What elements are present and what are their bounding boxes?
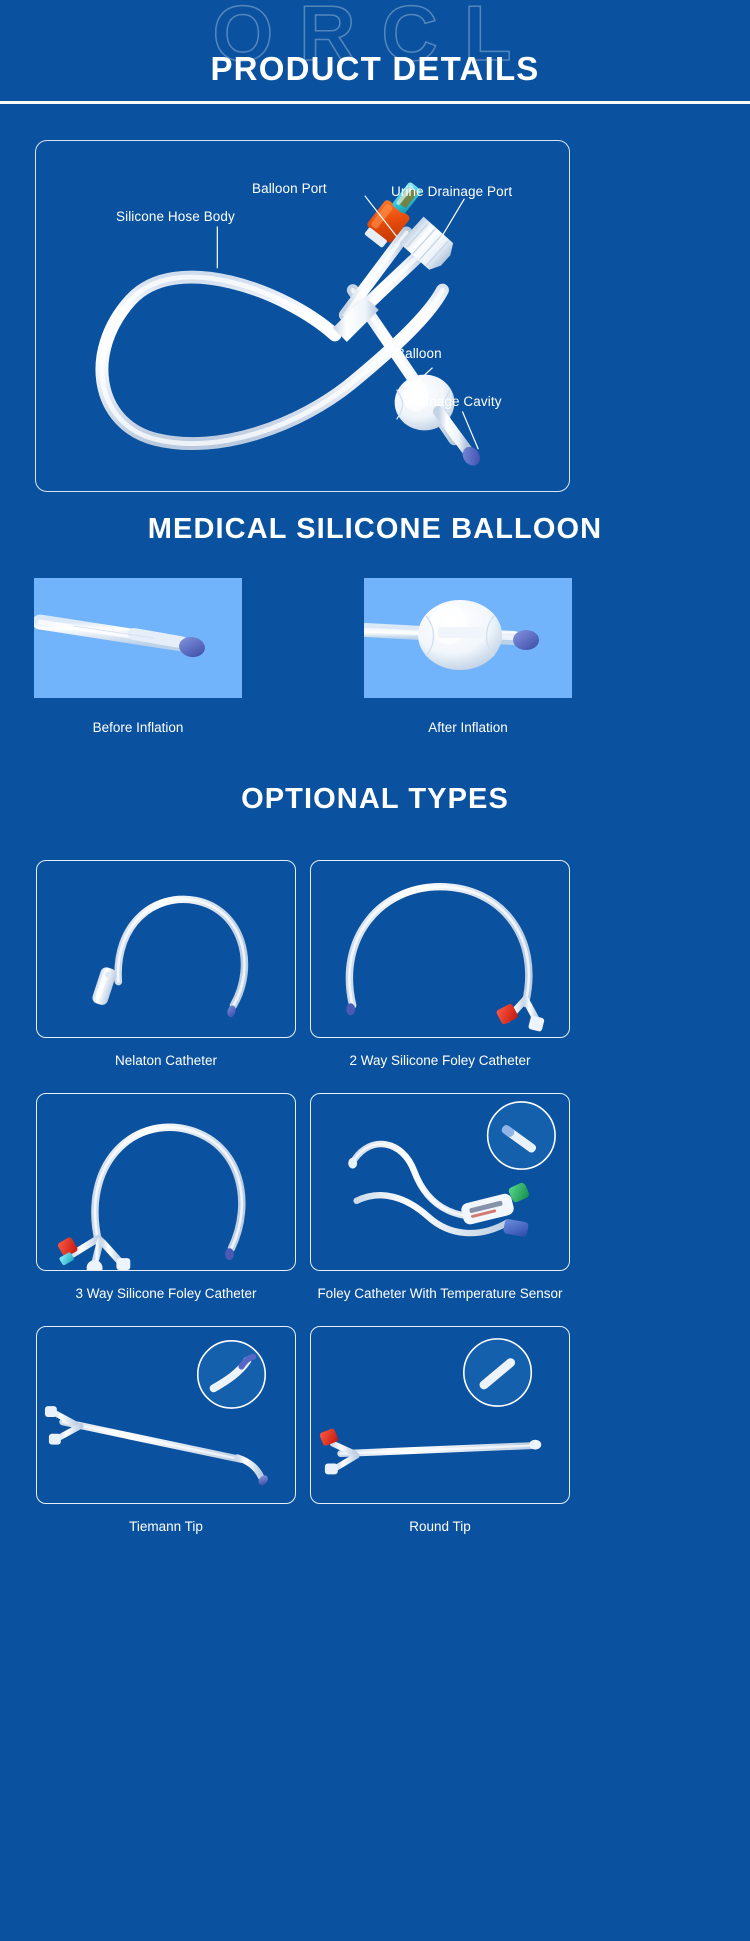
page-title: PRODUCT DETAILS <box>0 50 750 88</box>
type-caption-nelaton-catheter: Nelaton Catheter <box>36 1053 296 1068</box>
callout-balloon: Balloon <box>396 346 442 361</box>
type-card-3way-foley-catheter <box>36 1093 296 1271</box>
section-title-optional-types: OPTIONAL TYPES <box>0 783 750 816</box>
type-caption-temperature-sensor-catheter: Foley Catheter With Temperature Sensor <box>310 1286 570 1301</box>
round-tip-illustration <box>311 1327 569 1503</box>
type-cell-3way-foley-catheter[interactable]: 3 Way Silicone Foley Catheter <box>36 1093 296 1301</box>
type-cell-tiemann-tip[interactable]: Tiemann Tip <box>36 1326 296 1534</box>
balloon-after-caption: After Inflation <box>364 720 572 735</box>
callout-urine-drainage-port: Urine Drainage Port <box>391 184 512 199</box>
balloon-before-caption: Before Inflation <box>34 720 242 735</box>
balloon-before-item: Before Inflation <box>34 578 242 735</box>
balloon-deflated-illustration <box>34 578 242 698</box>
type-card-tiemann-tip <box>36 1326 296 1504</box>
section-title-medical-silicone-balloon: MEDICAL SILICONE BALLOON <box>0 513 750 546</box>
tiemann-tip-illustration <box>37 1327 295 1503</box>
nelaton-catheter-illustration <box>37 861 295 1037</box>
type-card-temperature-sensor-catheter <box>310 1093 570 1271</box>
type-caption-2way-foley-catheter: 2 Way Silicone Foley Catheter <box>310 1053 570 1068</box>
type-caption-3way-foley-catheter: 3 Way Silicone Foley Catheter <box>36 1286 296 1301</box>
balloon-comparison-row: Before Inflation <box>0 578 750 733</box>
type-cell-2way-foley-catheter[interactable]: 2 Way Silicone Foley Catheter <box>310 860 570 1068</box>
callout-balloon-port: Balloon Port <box>252 181 327 196</box>
type-card-round-tip <box>310 1326 570 1504</box>
callout-silicone-hose-body: Silicone Hose Body <box>116 209 235 224</box>
balloon-after-item: After Inflation <box>364 578 572 735</box>
two-way-foley-illustration <box>311 861 569 1037</box>
type-cell-temperature-sensor-catheter[interactable]: Foley Catheter With Temperature Sensor <box>310 1093 570 1301</box>
product-diagram-illustration: Silicone Hose Body Balloon Port Urine Dr… <box>36 141 569 491</box>
balloon-inflated-illustration <box>364 578 572 698</box>
temperature-sensor-catheter-illustration <box>311 1094 569 1270</box>
type-card-2way-foley-catheter <box>310 860 570 1038</box>
page-header: ORCL PRODUCT DETAILS <box>0 0 750 104</box>
product-diagram-card: Silicone Hose Body Balloon Port Urine Dr… <box>35 140 570 492</box>
type-card-nelaton-catheter <box>36 860 296 1038</box>
three-way-foley-illustration <box>37 1094 295 1270</box>
balloon-after-photo <box>364 578 572 698</box>
type-cell-nelaton-catheter[interactable]: Nelaton Catheter <box>36 860 296 1068</box>
balloon-before-photo <box>34 578 242 698</box>
type-cell-round-tip[interactable]: Round Tip <box>310 1326 570 1534</box>
type-caption-round-tip: Round Tip <box>310 1519 570 1534</box>
callout-drainage-cavity: Drainage Cavity <box>404 394 502 409</box>
type-caption-tiemann-tip: Tiemann Tip <box>36 1519 296 1534</box>
